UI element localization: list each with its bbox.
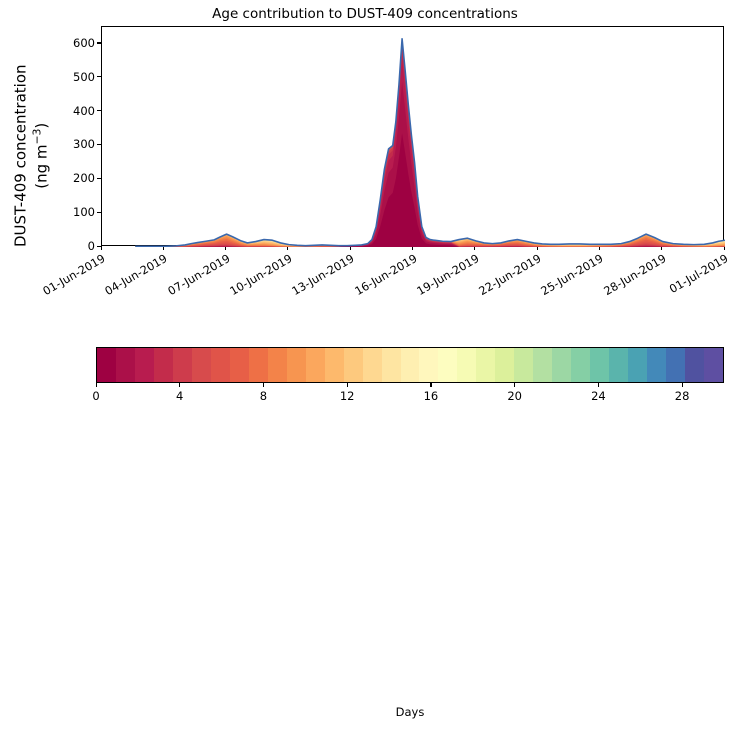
x-tick-label: 25-Jun-2019 xyxy=(495,252,605,323)
y-tick-label: 400 xyxy=(73,104,95,118)
colorbar-band xyxy=(552,348,571,382)
colorbar-band xyxy=(268,348,287,382)
colorbar-band xyxy=(306,348,325,382)
colorbar-band xyxy=(97,348,116,382)
colorbar-band xyxy=(495,348,514,382)
colorbar-band xyxy=(666,348,685,382)
colorbar[interactable]: Days xyxy=(96,347,724,383)
colorbar-tick-label: 4 xyxy=(176,389,183,403)
y-tick-label: 600 xyxy=(73,36,95,50)
colorbar-band xyxy=(476,348,495,382)
x-tick-label: 01-Jul-2019 xyxy=(620,252,730,323)
colorbar-tick-mark xyxy=(96,383,97,387)
colorbar-band xyxy=(249,348,268,382)
chart-title: Age contribution to DUST-409 concentrati… xyxy=(0,6,730,22)
plot-area xyxy=(101,26,724,246)
colorbar-band xyxy=(344,348,363,382)
x-tick-label: 19-Jun-2019 xyxy=(371,252,481,323)
colorbar-band xyxy=(457,348,476,382)
colorbar-tick-label: 20 xyxy=(507,389,522,403)
colorbar-band xyxy=(154,348,173,382)
colorbar-band xyxy=(363,348,382,382)
colorbar-band xyxy=(401,348,420,382)
area-chart-canvas xyxy=(102,27,725,247)
colorbar-tick-label: 16 xyxy=(424,389,439,403)
x-tick-label: 10-Jun-2019 xyxy=(184,252,294,323)
colorbar-label: Days xyxy=(96,694,724,730)
x-tick-label: 16-Jun-2019 xyxy=(309,252,419,323)
x-tick-label: 22-Jun-2019 xyxy=(433,252,543,323)
colorbar-tick-label: 8 xyxy=(260,389,267,403)
y-tick-label: 300 xyxy=(73,137,95,151)
colorbar-tick-label: 24 xyxy=(591,389,606,403)
colorbar-band xyxy=(514,348,533,382)
colorbar-band xyxy=(590,348,609,382)
y-tick-label: 200 xyxy=(73,171,95,185)
y-tick-label: 0 xyxy=(88,239,95,253)
colorbar-band xyxy=(382,348,401,382)
x-tick-label: 07-Jun-2019 xyxy=(122,252,232,323)
colorbar-band xyxy=(647,348,666,382)
colorbar-band xyxy=(704,348,723,382)
colorbar-tick-mark xyxy=(179,383,180,387)
colorbar-band xyxy=(230,348,249,382)
colorbar-band xyxy=(533,348,552,382)
y-tick-label: 500 xyxy=(73,70,95,84)
colorbar-band xyxy=(173,348,192,382)
colorbar-tick-mark xyxy=(430,383,431,387)
colorbar-tick-mark xyxy=(598,383,599,387)
colorbar-tick-label: 0 xyxy=(92,389,99,403)
colorbar-gradient xyxy=(96,347,724,383)
colorbar-band xyxy=(325,348,344,382)
colorbar-band xyxy=(419,348,438,382)
colorbar-tick-mark xyxy=(682,383,683,387)
colorbar-tick-mark xyxy=(263,383,264,387)
colorbar-band xyxy=(685,348,704,382)
y-axis: 0100200300400500600 xyxy=(0,0,101,425)
colorbar-band xyxy=(628,348,647,382)
colorbar-tick-mark xyxy=(514,383,515,387)
colorbar-band xyxy=(287,348,306,382)
colorbar-tick-mark xyxy=(347,383,348,387)
figure: Age contribution to DUST-409 concentrati… xyxy=(0,0,730,425)
y-tick-label: 100 xyxy=(73,205,95,219)
colorbar-band xyxy=(116,348,135,382)
x-tick-label: 28-Jun-2019 xyxy=(558,252,668,323)
colorbar-band xyxy=(438,348,457,382)
colorbar-band xyxy=(192,348,211,382)
colorbar-band xyxy=(571,348,590,382)
colorbar-band xyxy=(609,348,628,382)
colorbar-tick-label: 12 xyxy=(340,389,355,403)
x-tick-label: 13-Jun-2019 xyxy=(246,252,356,323)
colorbar-band xyxy=(211,348,230,382)
colorbar-tick-label: 28 xyxy=(675,389,690,403)
colorbar-band xyxy=(135,348,154,382)
